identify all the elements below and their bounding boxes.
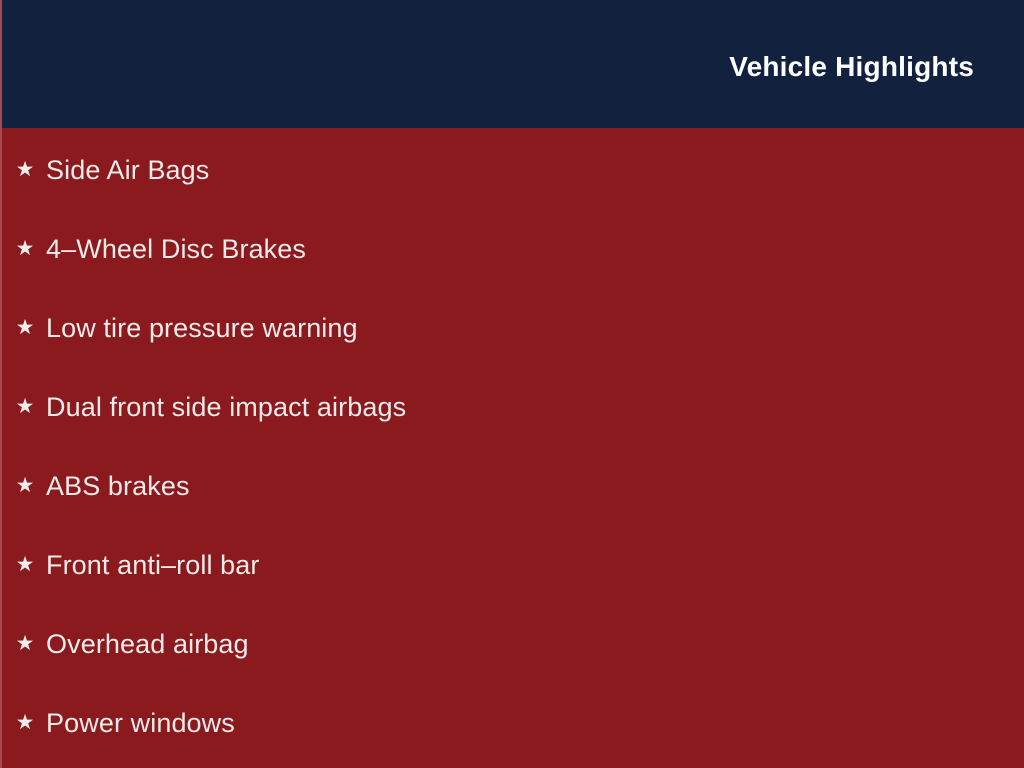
vehicle-highlights-list: ★Side Air Bags★4–Wheel Disc Brakes★Low t… (2, 128, 1024, 768)
star-bullet-icon: ★ (10, 633, 40, 654)
star-bullet-icon: ★ (10, 238, 40, 259)
list-item-label: ABS brakes (46, 471, 1024, 501)
star-bullet-icon: ★ (10, 712, 40, 733)
list-item-label: Side Air Bags (46, 155, 1024, 185)
list-item-label: Power windows (46, 708, 1024, 738)
page-title: Vehicle Highlights (729, 53, 974, 81)
list-item-label: Overhead airbag (46, 629, 1024, 659)
list-item: ★Low tire pressure warning (2, 308, 1024, 348)
list-item-label: Front anti–roll bar (46, 550, 1024, 580)
list-item-label: Low tire pressure warning (46, 313, 1024, 343)
list-item-label: 4–Wheel Disc Brakes (46, 234, 1024, 264)
star-bullet-icon: ★ (10, 159, 40, 180)
list-item: ★Side Air Bags (2, 150, 1024, 190)
list-item: ★Overhead airbag (2, 624, 1024, 664)
list-item: ★Power windows (2, 703, 1024, 743)
star-bullet-icon: ★ (10, 475, 40, 496)
list-item: ★4–Wheel Disc Brakes (2, 229, 1024, 269)
star-bullet-icon: ★ (10, 317, 40, 338)
slide-header-bar: Vehicle Highlights (2, 0, 1024, 128)
star-bullet-icon: ★ (10, 554, 40, 575)
slide-canvas: Vehicle Highlights ★Side Air Bags★4–Whee… (0, 0, 1024, 768)
star-bullet-icon: ★ (10, 396, 40, 417)
list-item: ★ABS brakes (2, 466, 1024, 506)
list-item: ★Front anti–roll bar (2, 545, 1024, 585)
list-item: ★Dual front side impact airbags (2, 387, 1024, 427)
list-item-label: Dual front side impact airbags (46, 392, 1024, 422)
